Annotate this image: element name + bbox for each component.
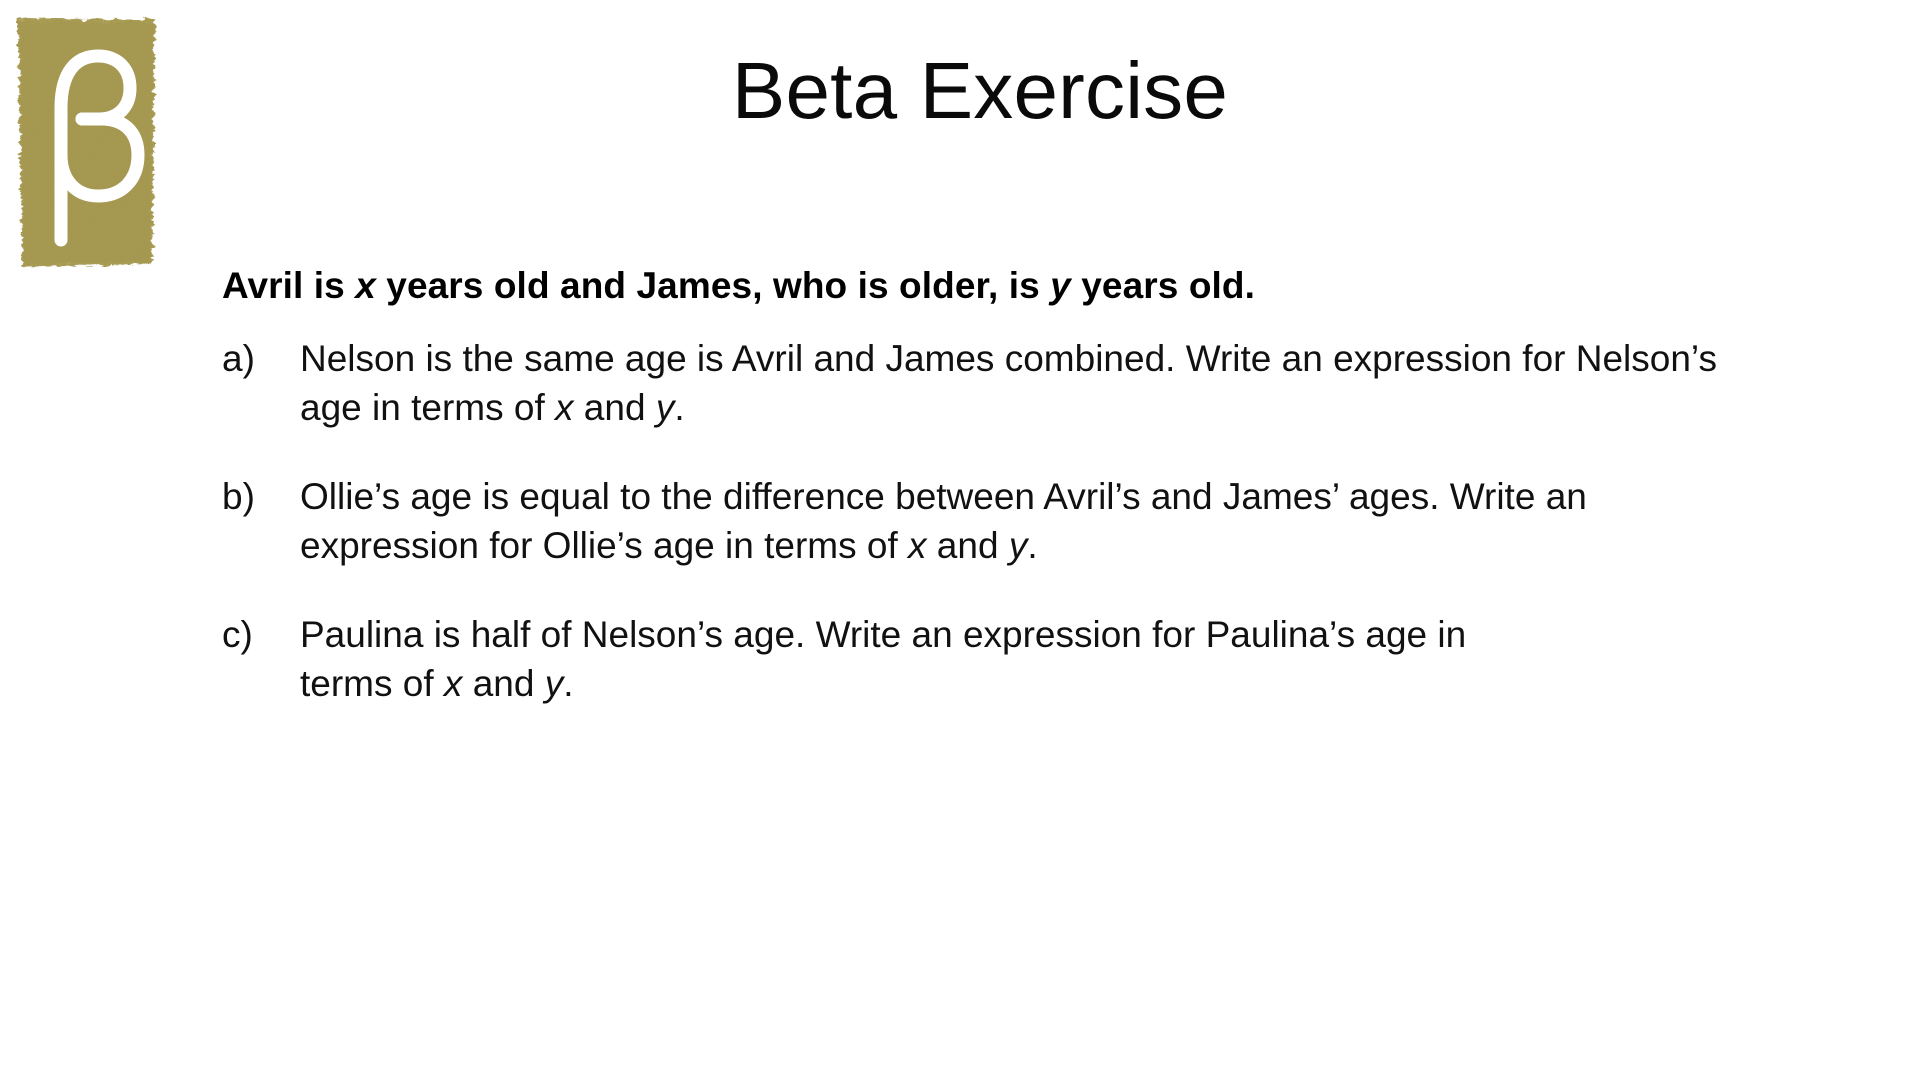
question-marker-b: b) <box>222 473 300 522</box>
question-marker-a: a) <box>222 335 300 384</box>
beta-logo-icon <box>14 12 160 272</box>
lead-part-1: Avril is <box>222 265 355 306</box>
beta-logo <box>14 12 160 272</box>
lead-part-3: years old. <box>1071 265 1255 306</box>
list-item: c) Paulina is half of Nelson’s age. Writ… <box>222 611 1822 709</box>
question-text-a: Nelson is the same age is Avril and Jame… <box>300 335 1720 433</box>
question-text-c: Paulina is half of Nelson’s age. Write a… <box>300 611 1550 709</box>
lead-part-2: years old and James, who is older, is <box>376 265 1050 306</box>
list-item: b) Ollie’s age is equal to the differenc… <box>222 473 1822 571</box>
lead-variable-x: x <box>355 265 376 306</box>
lead-statement: Avril is x years old and James, who is o… <box>222 262 1822 309</box>
slide-canvas: Beta Exercise Avril is x years old and J… <box>0 0 1920 1080</box>
slide-body: Avril is x years old and James, who is o… <box>222 262 1822 708</box>
page-title: Beta Exercise <box>190 46 1770 136</box>
lead-variable-y: y <box>1050 265 1071 306</box>
question-marker-c: c) <box>222 611 300 660</box>
list-item: a) Nelson is the same age is Avril and J… <box>222 335 1822 433</box>
question-text-b: Ollie’s age is equal to the difference b… <box>300 473 1625 571</box>
question-list: a) Nelson is the same age is Avril and J… <box>222 335 1822 708</box>
